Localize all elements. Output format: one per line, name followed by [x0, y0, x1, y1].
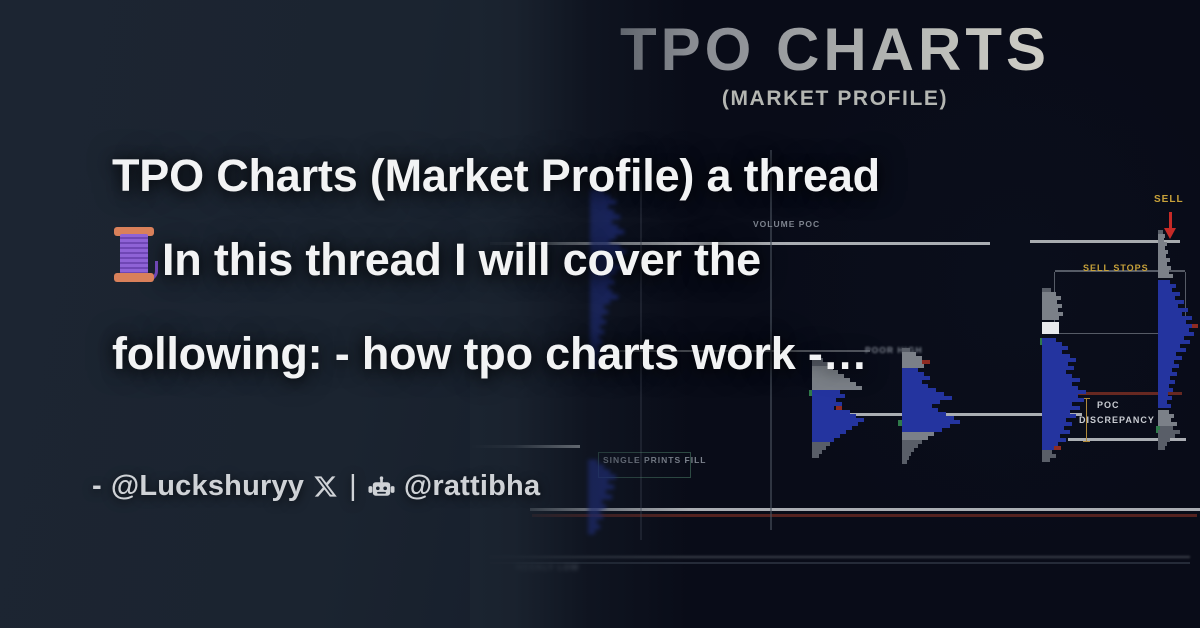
x-logo-icon[interactable]	[313, 474, 338, 499]
source-handle[interactable]: @rattibha	[404, 470, 540, 503]
social-share-card: TPO CHARTS (MARKET PROFILE) VOLUME POC P	[0, 0, 1200, 628]
headline-line-3: following: - how tpo charts work -…	[112, 312, 1087, 396]
attribution-footer: - @Luckshuryy | @rattibha	[92, 470, 540, 503]
headline-line-2: In this thread I will cover the	[162, 234, 761, 285]
thread-spool-icon	[112, 225, 156, 312]
headline-line-2-wrap: In this thread I will cover the	[112, 218, 1087, 312]
headline-line-1: TPO Charts (Market Profile) a thread	[112, 134, 1087, 218]
author-handle[interactable]: @Luckshuryy	[111, 470, 304, 503]
footer-dash: -	[92, 470, 102, 503]
rattibha-robot-logo-icon[interactable]	[368, 475, 395, 499]
page-title: TPO Charts (Market Profile) a thread In …	[112, 134, 1087, 396]
footer-separator: |	[347, 470, 359, 503]
